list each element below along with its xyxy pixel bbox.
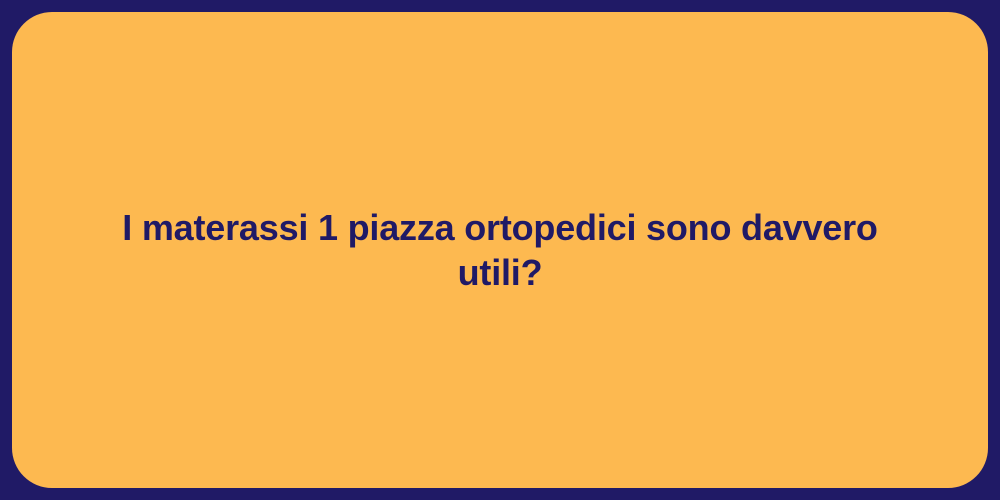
card-heading: I materassi 1 piazza ortopedici sono dav…: [90, 205, 910, 295]
card-frame: I materassi 1 piazza ortopedici sono dav…: [0, 0, 1000, 500]
card-panel: I materassi 1 piazza ortopedici sono dav…: [12, 12, 988, 488]
